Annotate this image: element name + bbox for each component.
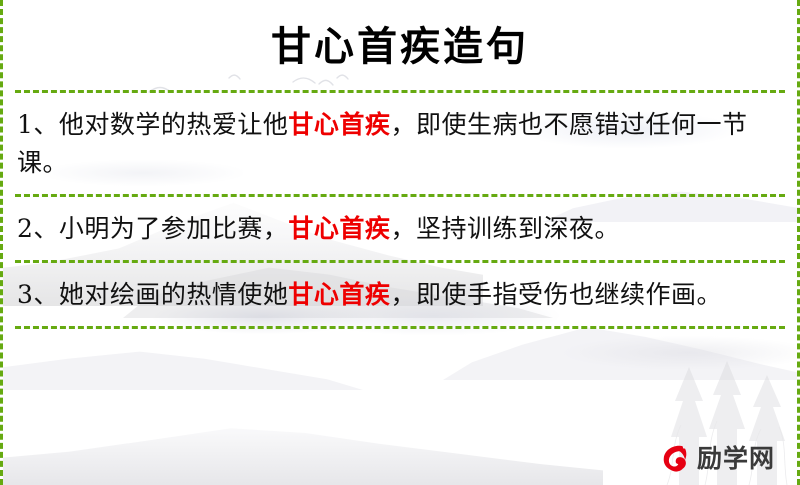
sentence-text-after: ，坚持训练到深夜。	[390, 214, 620, 243]
sentence-item: 1、他对数学的热爱让他甘心首疾，即使生病也不愿错过任何一节课。	[3, 93, 797, 194]
idiom-highlight: 甘心首疾	[288, 280, 390, 309]
site-logo[interactable]: 励学网	[657, 441, 775, 475]
logo-text: 励学网	[697, 446, 775, 471]
sentence-item: 2、小明为了参加比赛，甘心首疾，坚持训练到深夜。	[3, 197, 797, 260]
sentence-text-before: 小明为了参加比赛，	[59, 214, 289, 243]
sentence-number: 1、	[17, 110, 59, 139]
page-root: 甘心首疾造句 1、他对数学的热爱让他甘心首疾，即使生病也不愿错过任何一节课。 2…	[0, 0, 800, 485]
sentence-text-before: 他对数学的热爱让他	[59, 110, 289, 139]
idiom-highlight: 甘心首疾	[288, 110, 390, 139]
divider-3	[15, 326, 785, 329]
red-swirl-phoenix-icon	[657, 441, 691, 475]
sentence-number: 3、	[17, 280, 59, 309]
idiom-highlight: 甘心首疾	[288, 214, 390, 243]
sentence-item: 3、她对绘画的热情使她甘心首疾，即使手指受伤也继续作画。	[3, 263, 797, 326]
sentence-text-after: ，即使手指受伤也继续作画。	[390, 280, 722, 309]
page-title: 甘心首疾造句	[3, 0, 797, 72]
sentence-number: 2、	[17, 214, 59, 243]
content-area: 甘心首疾造句 1、他对数学的热爱让他甘心首疾，即使生病也不愿错过任何一节课。 2…	[3, 0, 797, 485]
sentence-text-before: 她对绘画的热情使她	[59, 280, 289, 309]
